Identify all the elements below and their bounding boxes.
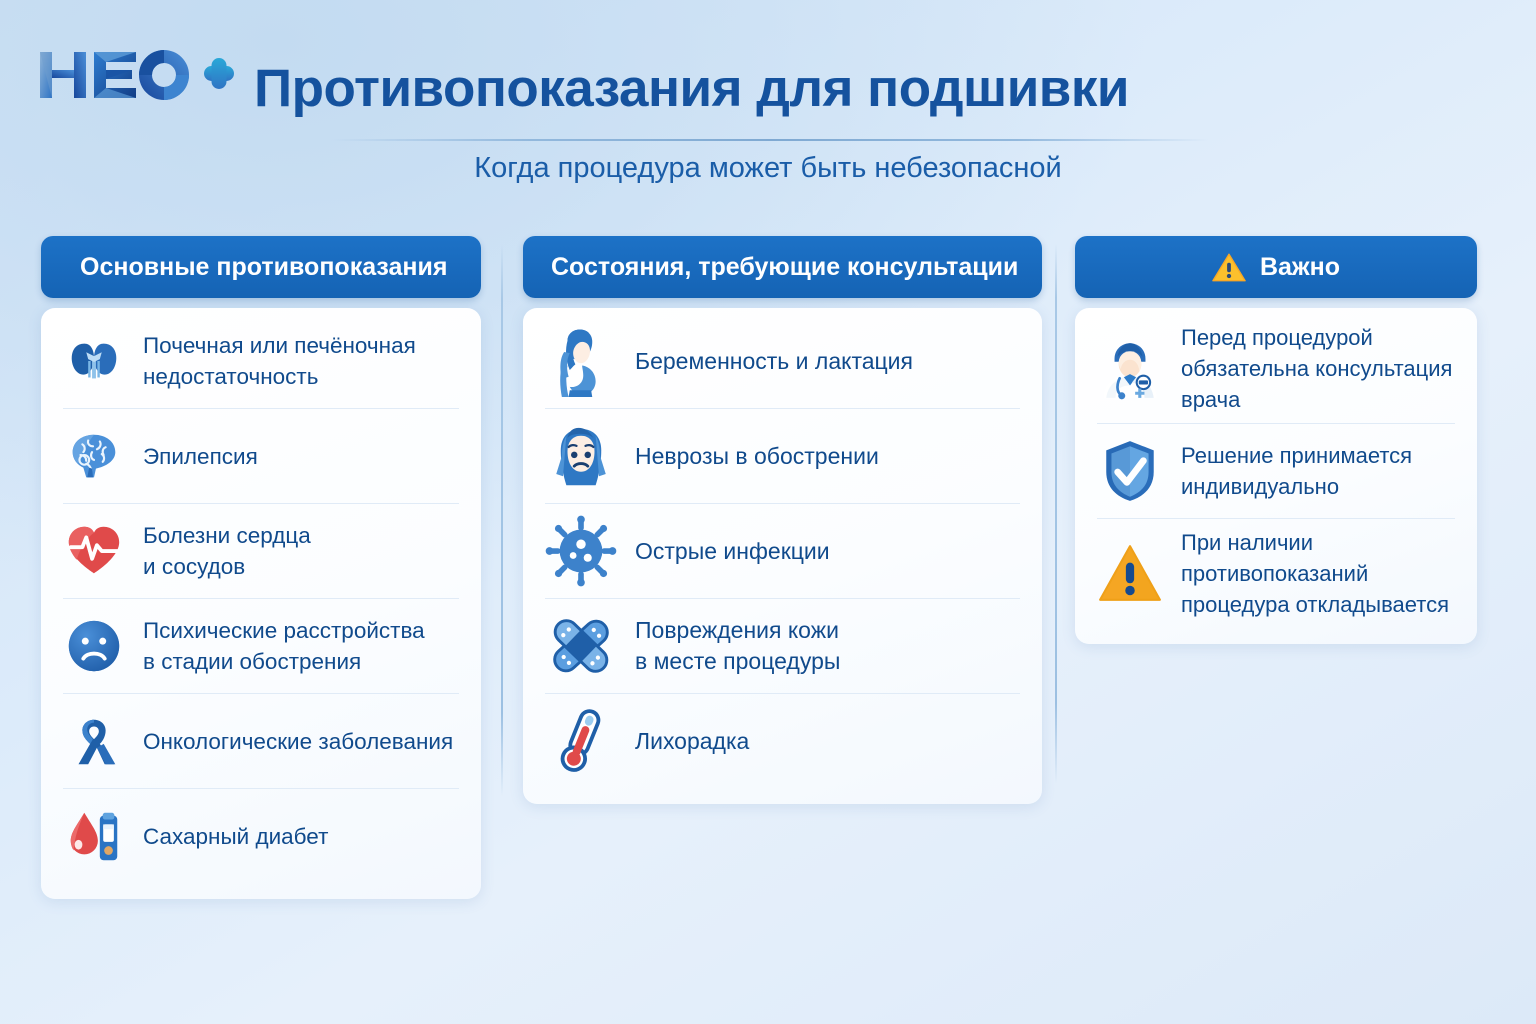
column-divider-1 <box>501 244 503 796</box>
column-header-label: Состояния, требующие консультации <box>551 253 1018 282</box>
virus-icon <box>545 515 617 587</box>
list-item[interactable]: Болезни сердца и сосудов <box>63 504 459 599</box>
list-item[interactable]: Эпилепсия <box>63 409 459 504</box>
list-item-label: Болезни сердца и сосудов <box>143 520 311 582</box>
column-header-important: Важно <box>1075 236 1477 298</box>
blood-drop-glucometer-icon <box>63 805 125 867</box>
list-item[interactable]: Психические расстройства в стадии обостр… <box>63 599 459 694</box>
list-item[interactable]: При наличии противопоказаний процедура о… <box>1097 519 1455 628</box>
column-needs-consultation: Состояния, требующие консультации Береме… <box>523 236 1042 804</box>
list-item[interactable]: Повреждения кожи в месте процедуры <box>545 599 1020 694</box>
list-item[interactable]: Лихорадка <box>545 694 1020 788</box>
column-header-main: Основные противопоказания <box>41 236 481 298</box>
list-item-label: Онкологические заболевания <box>143 726 453 757</box>
list-item-label: Сахарный диабет <box>143 821 328 852</box>
brand-row: Противопоказания для подшивки <box>36 44 1129 120</box>
column-header-label: Основные противопоказания <box>80 253 447 282</box>
card-needs-consultation: Беременность и лактация Неврозы в обостр… <box>523 308 1042 804</box>
shield-check-icon <box>1097 438 1163 504</box>
column-important: Важно <box>1075 236 1477 644</box>
list-item[interactable]: Сахарный диабет <box>63 789 459 883</box>
column-header-consultation: Состояния, требующие консультации <box>523 236 1042 298</box>
title-divider <box>330 139 1210 141</box>
column-header-label: Важно <box>1260 253 1340 282</box>
list-item-label: Решение принимается индивидуально <box>1181 440 1412 502</box>
bandage-icon <box>545 610 617 682</box>
page-title: Противопоказания для подшивки <box>254 58 1129 120</box>
list-item[interactable]: Перед процедурой обязательна консультаци… <box>1097 314 1455 424</box>
page-subtitle: Когда процедура может быть небезопасной <box>0 152 1536 185</box>
list-item[interactable]: Острые инфекции <box>545 504 1020 599</box>
list-item[interactable]: Почечная или печёночная недостаточность <box>63 314 459 409</box>
sad-face-icon <box>63 615 125 677</box>
kidneys-icon <box>63 330 125 392</box>
brain-icon <box>63 425 125 487</box>
list-item-label: Беременность и лактация <box>635 346 913 377</box>
heart-pulse-icon <box>63 520 125 582</box>
list-item-label: Повреждения кожи в месте процедуры <box>635 615 840 677</box>
card-main-contraindications: Почечная или печёночная недостаточность … <box>41 308 481 899</box>
list-item-label: Почечная или печёночная недостаточность <box>143 330 416 392</box>
warning-triangle-icon <box>1212 252 1246 283</box>
list-item[interactable]: Онкологические заболевания <box>63 694 459 789</box>
pregnant-woman-icon <box>545 325 617 397</box>
card-important: Перед процедурой обязательна консультаци… <box>1075 308 1477 644</box>
list-item-label: Лихорадка <box>635 726 749 757</box>
page-header: Противопоказания для подшивки Когда проц… <box>0 0 1536 205</box>
list-item-label: Эпилепсия <box>143 441 258 472</box>
doctor-icon <box>1097 336 1163 402</box>
list-item[interactable]: Неврозы в обострении <box>545 409 1020 504</box>
list-item-label: При наличии противопоказаний процедура о… <box>1181 527 1449 620</box>
anxious-woman-icon <box>545 420 617 492</box>
thermometer-icon <box>545 705 617 777</box>
list-item-label: Перед процедурой обязательна консультаци… <box>1181 322 1452 415</box>
awareness-ribbon-icon <box>63 710 125 772</box>
list-item-label: Неврозы в обострении <box>635 441 879 472</box>
warning-triangle-icon <box>1097 541 1163 607</box>
list-item[interactable]: Беременность и лактация <box>545 314 1020 409</box>
column-divider-2 <box>1055 244 1057 784</box>
list-item-label: Психические расстройства в стадии обостр… <box>143 615 425 677</box>
column-main-contraindications: Основные противопоказания Почечная или п… <box>41 236 481 899</box>
neo-plus-logo-icon <box>36 44 236 106</box>
list-item-label: Острые инфекции <box>635 536 830 567</box>
list-item[interactable]: Решение принимается индивидуально <box>1097 424 1455 519</box>
